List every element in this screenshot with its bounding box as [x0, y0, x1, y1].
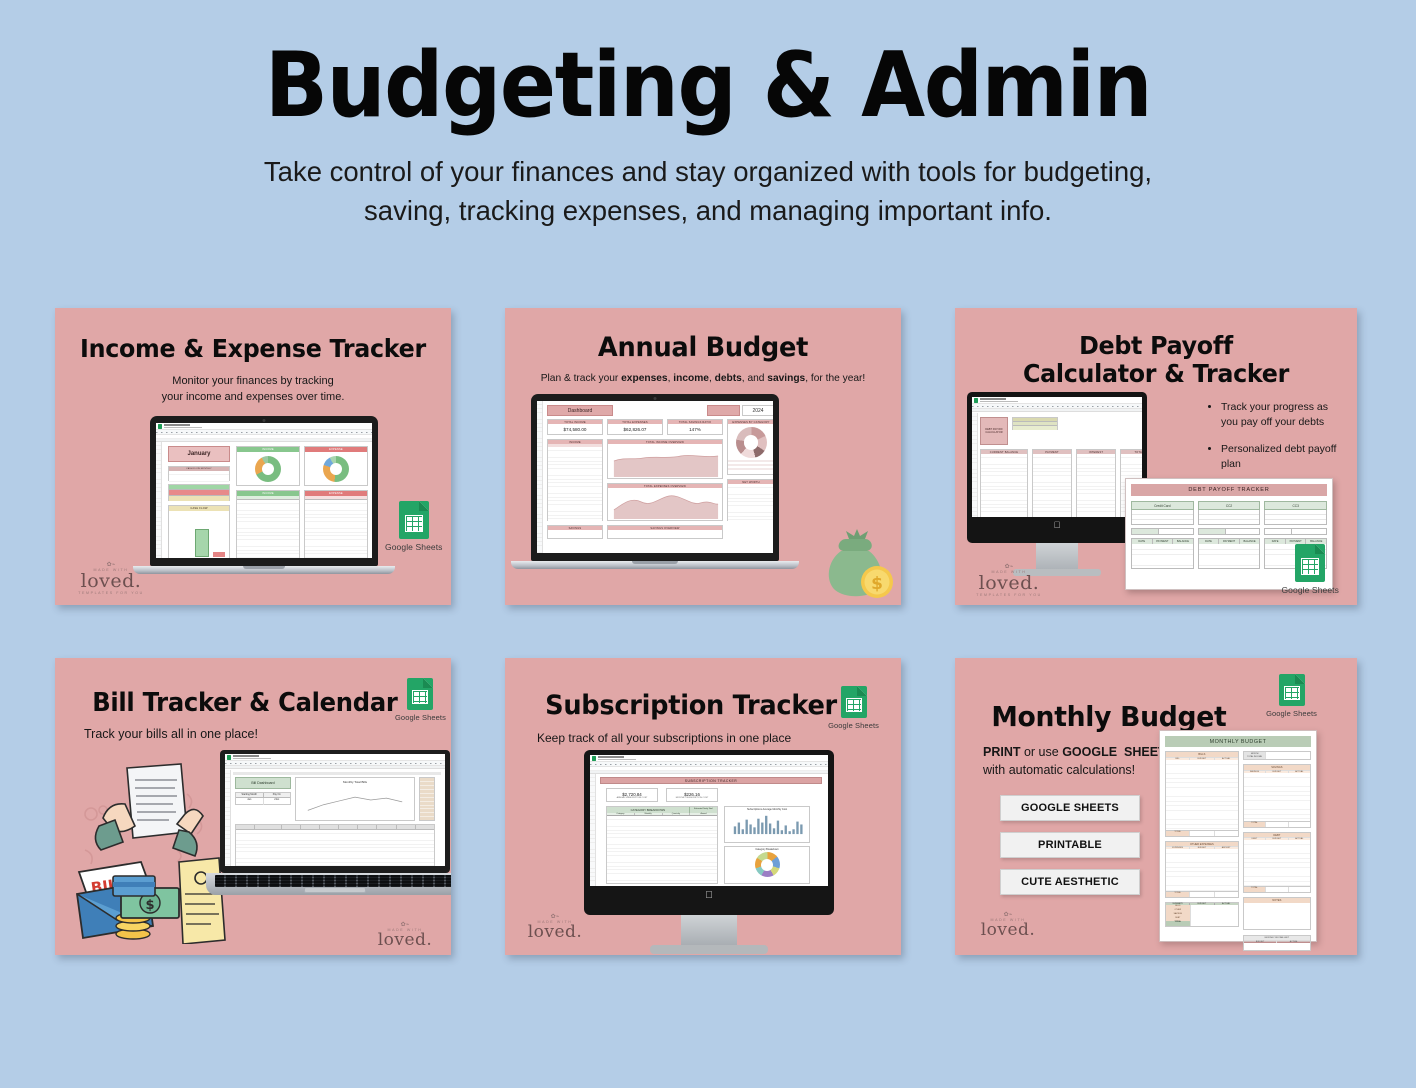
- logo-flourish: ✿⌁: [369, 921, 441, 928]
- card-title: Income & Expense Tracker: [65, 334, 441, 363]
- google-sheets-badge: Google Sheets: [385, 501, 443, 552]
- th: ACTUAL: [1289, 771, 1310, 773]
- page-subtitle: Take control of your finances and stay o…: [0, 152, 1416, 230]
- apple-logo-icon: : [972, 520, 1142, 530]
- loved-logo: ✿⌁ MADE WITH loved. TEMPLATES FOR YOU: [71, 561, 151, 595]
- card-subtitle: Plan & track your expenses, income, debt…: [505, 373, 901, 384]
- product-card-grid: Income & Expense Tracker Monitor your fi…: [55, 308, 1361, 955]
- google-sheets-icon: [399, 501, 429, 539]
- th: BUDGET: [1190, 758, 1214, 760]
- google-sheets-label: Google Sheets: [395, 713, 446, 722]
- th: PAYMENT: [1219, 539, 1240, 544]
- th: BUDGET: [1266, 838, 1288, 840]
- total-label: TOTAL: [1244, 822, 1265, 827]
- svg-text:$: $: [145, 898, 154, 913]
- debt-col-header: CC2: [1198, 501, 1261, 510]
- logo-flourish: ✿⌁: [71, 561, 151, 568]
- th: BUDGET: [1190, 847, 1214, 849]
- laptop-keyboard: [206, 873, 451, 895]
- spreadsheet-debt-payoff: DEBT PAYOFFCALCULATOR CURRENT BALANCE PA…: [972, 397, 1142, 517]
- apple-logo-icon: : [590, 890, 828, 901]
- product-card-subscription-tracker[interactable]: Subscription Tracker Keep track of all y…: [505, 658, 901, 955]
- macbook-mockup: Dashboard 2024 TOTAL INCOME $74,580.00 T…: [531, 394, 779, 569]
- overlay-title: DEBT PAYOFF TRACKER: [1131, 484, 1327, 496]
- th: DEBT: [1244, 838, 1266, 840]
- macbook-mockup: January CASH FLOW MONTHLY CASH FLOW: [150, 416, 378, 574]
- th: BUDGET: [1244, 941, 1278, 943]
- product-card-monthly-budget[interactable]: Monthly Budget PRINT or use GOOGLE SHEET…: [955, 658, 1357, 955]
- logo-wordmark: loved.: [71, 572, 151, 591]
- logo-wordmark: loved.: [969, 574, 1049, 593]
- th: ACTUAL: [1289, 838, 1310, 840]
- bullet-item: Track your progress as you pay off your …: [1221, 400, 1340, 430]
- loved-logo: ✿⌁ MADE WITH loved.: [519, 913, 591, 941]
- variant-button-group: GOOGLE SHEETS PRINTABLE CUTE AESTHETIC: [1000, 795, 1140, 906]
- device-screen: January CASH FLOW MONTHLY CASH FLOW: [150, 416, 378, 566]
- card-title-line-1: Debt Payoff: [965, 332, 1347, 360]
- loved-logo: ✿⌁ MADE WITH loved.: [369, 921, 441, 949]
- th: DATE: [1132, 539, 1153, 544]
- product-card-income-expense-tracker[interactable]: Income & Expense Tracker Monitor your fi…: [55, 308, 451, 605]
- card-subtitle-line-1: Monitor your finances by tracking: [55, 374, 451, 390]
- device-screen: DEBT PAYOFFCALCULATOR CURRENT BALANCE PA…: [967, 392, 1147, 543]
- imac-foot: [650, 945, 768, 954]
- th: AMOUNT: [1215, 847, 1238, 849]
- svg-text:$: $: [871, 574, 883, 594]
- th: BALANCE: [1173, 539, 1193, 544]
- google-sheets-badge: Google Sheets: [828, 686, 879, 730]
- total-label: TOTAL: [1166, 892, 1189, 897]
- google-sheets-badge: Google Sheets: [395, 678, 446, 722]
- th: ACTUAL: [1215, 758, 1238, 760]
- kpi-label: ANNUAL SUBSCRIPTION COST: [607, 797, 657, 799]
- printable-variant-button[interactable]: PRINTABLE: [1000, 832, 1140, 858]
- th: Quarterly: [663, 813, 691, 815]
- th: TOTAL INCOME: [1247, 756, 1262, 758]
- google-sheets-label: Google Sheets: [828, 721, 879, 730]
- logo-wordmark: loved.: [519, 924, 591, 941]
- spreadsheet-bill-tracker: Bill Dashboard Starting MonthPay On Jan2…: [225, 754, 445, 866]
- product-card-bill-tracker-calendar[interactable]: Bill Tracker & Calendar Track your bills…: [55, 658, 451, 955]
- logo-tagline-bottom: TEMPLATES FOR YOU: [71, 591, 151, 595]
- th: BALANCE: [1240, 539, 1260, 544]
- page-subtitle-line-2: saving, tracking expenses, and managing …: [0, 191, 1416, 230]
- logo-wordmark: loved.: [971, 922, 1045, 939]
- card-subtitle: Keep track of all your subscriptions in …: [537, 731, 901, 745]
- th: DATE: [1199, 539, 1220, 544]
- logo-flourish: ✿⌁: [971, 911, 1045, 918]
- imac-mockup: SUBSCRIPTION TRACKER $2,720.84ANNUAL SUB…: [584, 750, 834, 954]
- google-sheets-icon: [1279, 674, 1305, 706]
- feature-bullet-list: Track your progress as you pay off your …: [1210, 400, 1340, 484]
- th: BUDGET: [1266, 771, 1288, 773]
- card-subtitle: Track your bills all in one place!: [84, 727, 451, 741]
- spreadsheet-annual-budget: Dashboard 2024 TOTAL INCOME $74,580.00 T…: [537, 401, 773, 553]
- logo-wordmark: loved.: [369, 932, 441, 949]
- page-subtitle-line-1: Take control of your finances and stay o…: [0, 152, 1416, 191]
- th: SAVINGS: [1244, 771, 1266, 773]
- product-card-annual-budget[interactable]: Annual Budget Plan & track your expenses…: [505, 308, 901, 605]
- card-title: Annual Budget: [515, 332, 891, 363]
- device-screen: SUBSCRIPTION TRACKER $2,720.84ANNUAL SUB…: [584, 750, 834, 915]
- printable-title: MONTHLY BUDGET: [1165, 736, 1311, 747]
- th: EXPENSES: [1166, 847, 1190, 849]
- laptop-mockup: Bill Dashboard Starting MonthPay On Jan2…: [220, 750, 450, 895]
- imac-mockup: DEBT PAYOFFCALCULATOR CURRENT BALANCE PA…: [967, 392, 1147, 576]
- device-base: [511, 561, 799, 569]
- cute-aesthetic-variant-button[interactable]: CUTE AESTHETIC: [1000, 869, 1140, 895]
- spreadsheet-subscription-tracker: SUBSCRIPTION TRACKER $2,720.84ANNUAL SUB…: [590, 755, 828, 886]
- kpi-label: MONTHLY SUBSCRIPTION COST: [667, 797, 717, 799]
- google-sheets-icon: [1295, 544, 1325, 582]
- device-screen: Bill Dashboard Starting MonthPay On Jan2…: [220, 750, 450, 873]
- total-label: TOTAL: [1166, 831, 1189, 836]
- page-title: Budgeting & Admin: [57, 42, 1360, 130]
- logo-flourish: ✿⌁: [969, 563, 1049, 570]
- card-subtitle-line-2: your income and expenses over time.: [55, 390, 451, 406]
- google-sheets-badge: Google Sheets: [1281, 544, 1339, 595]
- sheet-title: SUBSCRIPTION TRACKER: [600, 777, 822, 784]
- chart-title: Category Breakdown: [725, 847, 809, 851]
- card-subtitle: Monitor your finances by tracking your i…: [55, 374, 451, 406]
- google-sheets-label: Google Sheets: [1281, 585, 1339, 595]
- logo-flourish: ✿⌁: [519, 913, 591, 920]
- device-screen: Dashboard 2024 TOTAL INCOME $74,580.00 T…: [531, 394, 779, 561]
- google-sheets-icon: [407, 678, 433, 710]
- kpi-value: $2,720.84: [607, 789, 657, 797]
- th: PAYMENT: [1153, 539, 1174, 544]
- spreadsheet-income-expense: January CASH FLOW MONTHLY CASH FLOW: [156, 423, 372, 558]
- google-sheets-label: Google Sheets: [1266, 709, 1317, 718]
- loved-logo: ✿⌁ MADE WITH loved. TEMPLATES FOR YOU: [969, 563, 1049, 597]
- card-title-line-2: Calculator & Tracker: [965, 360, 1347, 388]
- card-title: Bill Tracker & Calendar: [92, 688, 442, 718]
- th: Annual: [690, 813, 717, 815]
- bills-illustration: BILLS $: [69, 754, 229, 944]
- td: TOTAL: [1166, 921, 1190, 926]
- google-sheets-label: Google Sheets: [385, 542, 443, 552]
- bullet-item: Personalized debt payoff plan: [1221, 442, 1340, 472]
- card-title: Debt Payoff Calculator & Tracker: [965, 332, 1347, 388]
- google-sheets-badge: Google Sheets: [1266, 674, 1317, 718]
- printable-budget-preview: MONTHLY BUDGET BILLS BILL BUDGET ACTUAL …: [1159, 730, 1317, 942]
- page-header: Budgeting & Admin Take control of your f…: [0, 0, 1416, 230]
- total-label: TOTAL: [1244, 887, 1265, 892]
- debt-col-header: CC3: [1264, 501, 1327, 510]
- product-card-debt-payoff-calculator[interactable]: Debt Payoff Calculator & Tracker Track y…: [955, 308, 1357, 605]
- kpi-value: $226.16: [667, 789, 717, 797]
- device-base: [133, 566, 395, 574]
- th: Category: [607, 813, 635, 815]
- google-sheets-variant-button[interactable]: GOOGLE SHEETS: [1000, 795, 1140, 821]
- th: BILL: [1166, 758, 1190, 760]
- imac-neck: [681, 915, 737, 945]
- th: Monthly: [635, 813, 663, 815]
- money-bag-illustration: $: [819, 527, 895, 599]
- debt-col-header: Credit Card: [1131, 501, 1194, 510]
- loved-logo: ✿⌁ MADE WITH loved.: [971, 911, 1045, 939]
- logo-tagline-bottom: TEMPLATES FOR YOU: [969, 593, 1049, 597]
- th: ACTUAL: [1277, 941, 1310, 943]
- google-sheets-icon: [841, 686, 867, 718]
